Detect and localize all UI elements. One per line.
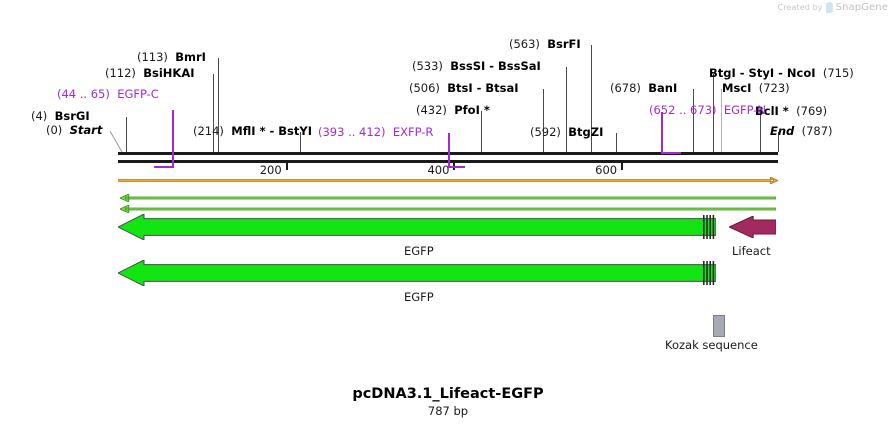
feature-arrow[interactable] — [118, 260, 716, 286]
ruler-tick-label: 600 — [595, 163, 617, 177]
site-position: (592) — [530, 125, 561, 139]
feature-arrow[interactable] — [120, 194, 776, 202]
restriction-site-label[interactable]: (592) BtgZI — [530, 126, 603, 138]
snapgene-watermark: Created by SnapGene — [778, 2, 888, 13]
site-position: (723) — [759, 81, 790, 95]
restriction-site-label[interactable]: (113) BmrI — [137, 51, 206, 63]
feature-bar[interactable] — [448, 166, 465, 168]
feature-label[interactable]: (44 .. 65) EGFP-C — [57, 88, 159, 100]
site-enzyme-name: BtgZI — [568, 125, 603, 139]
site-enzyme-name: Start — [70, 123, 103, 137]
feature-arrow[interactable] — [118, 214, 716, 240]
feature-arrow[interactable] — [118, 177, 778, 184]
site-enzyme-name: BsrGI — [55, 109, 90, 123]
site-leader-line — [760, 112, 761, 152]
site-enzyme-name: PfoI * — [454, 103, 490, 117]
site-leader-line — [693, 89, 694, 152]
site-enzyme-name: BsiHKAI — [143, 66, 194, 80]
feature-arrow[interactable] — [120, 205, 776, 213]
site-leader-line — [481, 111, 482, 152]
site-enzyme-name: MscI — [722, 81, 751, 95]
feature-name: EGFP-N — [724, 103, 766, 117]
snapgene-logo-icon — [826, 2, 833, 13]
kozak-sequence-box[interactable] — [713, 315, 725, 337]
restriction-site-label[interactable]: (214) MflI * - BstYI — [193, 125, 312, 137]
site-leader-line — [721, 89, 722, 152]
feature-range: (393 .. 412) — [318, 125, 386, 139]
feature-range: (652 .. 673) — [649, 103, 717, 117]
site-position: (715) — [823, 66, 854, 80]
feature-label[interactable]: (652 .. 673) EGFP-N — [649, 104, 766, 116]
site-position: (4) — [31, 109, 47, 123]
restriction-site-label[interactable]: (678) BanI — [610, 82, 677, 94]
feature-name: EGFP-C — [117, 87, 159, 101]
restriction-site-label[interactable]: (4) BsrGI — [31, 110, 90, 122]
site-leader-line — [126, 117, 127, 152]
site-enzyme-name: BssSI - BssSaI — [450, 59, 541, 73]
restriction-site-label[interactable]: (506) BtsI - BtsaI — [409, 82, 519, 94]
site-leader-line — [213, 74, 214, 152]
site-position: (113) — [137, 50, 168, 64]
site-position: (0) — [46, 123, 62, 137]
restriction-site-label[interactable]: (112) BsiHKAI — [105, 67, 195, 79]
site-enzyme-name: End — [770, 124, 794, 138]
plasmid-length: 787 bp — [0, 404, 896, 418]
restriction-site-label[interactable]: (563) BsrFI — [509, 38, 581, 50]
site-position: (769) — [796, 104, 827, 118]
restriction-site-label[interactable]: (533) BssSI - BssSaI — [412, 60, 541, 72]
feature-name: EXFP-R — [393, 125, 434, 139]
feature-label[interactable]: (393 .. 412) EXFP-R — [318, 126, 433, 138]
site-enzyme-name: BanI — [648, 81, 677, 95]
site-leader-line — [566, 67, 567, 152]
restriction-site-label[interactable]: End (787) — [770, 125, 833, 137]
site-position: (533) — [412, 59, 443, 73]
restriction-site-label[interactable]: (432) PfoI * — [416, 104, 490, 116]
site-leader-line — [543, 89, 544, 152]
site-position: (112) — [105, 66, 136, 80]
site-position: (678) — [610, 81, 641, 95]
kozak-sequence-label: Kozak sequence — [665, 338, 758, 352]
site-enzyme-name: MflI * - BstYI — [231, 124, 312, 138]
ruler-tick — [286, 163, 288, 170]
track-label: EGFP — [404, 290, 434, 304]
plasmid-map: Created by SnapGene (0) Start(4) BsrGI(1… — [0, 0, 896, 426]
site-enzyme-name: BsrFI — [547, 37, 580, 51]
restriction-site-label[interactable]: (0) Start — [46, 124, 102, 136]
track-label: Lifeact — [732, 244, 771, 258]
feature-bar[interactable] — [661, 152, 681, 154]
site-enzyme-name: BtgI - StyI - NcoI — [709, 66, 816, 80]
feature-connector — [172, 110, 174, 168]
restriction-site-label[interactable]: MscI (723) — [722, 82, 790, 94]
track-label: EGFP — [404, 244, 434, 258]
watermark-created-by: Created by — [778, 3, 823, 12]
restriction-site-label[interactable]: BtgI - StyI - NcoI (715) — [709, 67, 854, 79]
site-position: (787) — [802, 124, 833, 138]
site-position: (432) — [416, 103, 447, 117]
page-title: pcDNA3.1_Lifeact-EGFP — [0, 386, 896, 402]
ruler-tick-label: 200 — [260, 163, 282, 177]
site-leader-line — [616, 133, 617, 152]
site-enzyme-name: BmrI — [175, 50, 206, 64]
feature-bar[interactable] — [154, 166, 172, 168]
watermark-brand: SnapGene — [836, 2, 888, 13]
feature-connector — [448, 133, 450, 168]
feature-range: (44 .. 65) — [57, 87, 110, 101]
site-position: (214) — [193, 124, 224, 138]
site-position: (563) — [509, 37, 540, 51]
site-position: (506) — [409, 81, 440, 95]
ruler-tick-label: 400 — [427, 163, 449, 177]
ruler-tick — [621, 163, 623, 170]
feature-connector — [661, 112, 663, 154]
site-enzyme-name: BtsI - BtsaI — [447, 81, 518, 95]
feature-arrow[interactable] — [729, 216, 776, 238]
site-leader-line — [110, 131, 124, 152]
